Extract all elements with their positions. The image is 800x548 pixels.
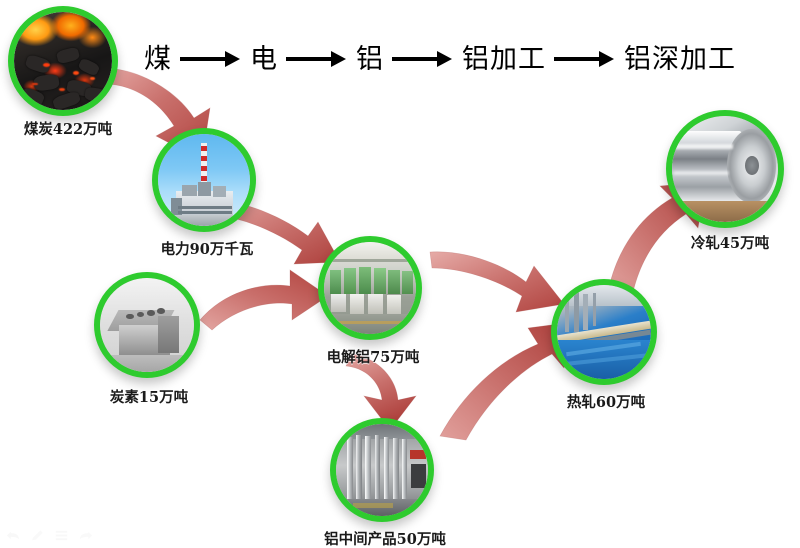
node-intermediate-photo bbox=[330, 418, 434, 522]
node-intermediate-label: 铝中间产品50万吨 bbox=[324, 528, 446, 548]
node-power-label: 电力90万千瓦 bbox=[161, 238, 254, 259]
node-coldroll-photo bbox=[666, 110, 784, 228]
header-arrow-icon bbox=[554, 49, 616, 69]
node-carbon-photo bbox=[94, 272, 200, 378]
header-arrow-icon bbox=[180, 49, 242, 69]
node-hotroll-label: 热轧60万吨 bbox=[567, 391, 645, 412]
node-hotroll[interactable]: 热轧60万吨 bbox=[551, 279, 661, 401]
header-term-power: 电 bbox=[250, 46, 278, 73]
watermark-toolbar bbox=[6, 528, 93, 543]
undo-icon[interactable] bbox=[6, 528, 21, 543]
arrow-carbon-to-electrolytic bbox=[198, 268, 330, 334]
node-hotroll-photo bbox=[551, 279, 657, 385]
node-coal-photo bbox=[8, 6, 118, 116]
list-icon[interactable] bbox=[54, 528, 69, 543]
node-intermediate[interactable]: 铝中间产品50万吨 bbox=[330, 418, 440, 540]
header-term-al-processing: 铝加工 bbox=[462, 46, 546, 73]
pencil-icon[interactable] bbox=[30, 528, 45, 543]
node-power[interactable]: 电力90万千瓦 bbox=[152, 128, 262, 244]
header-arrow-icon bbox=[286, 49, 348, 69]
node-electrolytic-photo bbox=[318, 236, 422, 340]
header-arrow-icon bbox=[392, 49, 454, 69]
header-term-al-deep-processing: 铝深加工 bbox=[624, 46, 736, 73]
node-coldroll-label: 冷轧45万吨 bbox=[691, 232, 769, 253]
node-electrolytic[interactable]: 电解铝75万吨 bbox=[318, 236, 428, 358]
node-electrolytic-label: 电解铝75万吨 bbox=[327, 346, 420, 367]
node-coldroll[interactable]: 冷轧45万吨 bbox=[666, 110, 794, 244]
node-carbon[interactable]: 炭素15万吨 bbox=[94, 272, 204, 392]
arrow-electrolytic-to-hotroll bbox=[428, 248, 570, 318]
node-coal[interactable]: 煤炭422万吨 bbox=[8, 6, 128, 134]
redo-icon[interactable] bbox=[78, 528, 93, 543]
node-carbon-label: 炭素15万吨 bbox=[110, 386, 188, 407]
header-term-coal: 煤 bbox=[144, 46, 172, 73]
header-term-aluminum: 铝 bbox=[356, 46, 384, 73]
node-power-photo bbox=[152, 128, 256, 232]
header-flow-chain: 煤 电 铝 铝加工 铝深加工 bbox=[205, 36, 675, 82]
diagram-canvas: 煤 电 铝 铝加工 铝深加工 bbox=[0, 0, 800, 548]
node-coal-label: 煤炭422万吨 bbox=[24, 118, 112, 139]
